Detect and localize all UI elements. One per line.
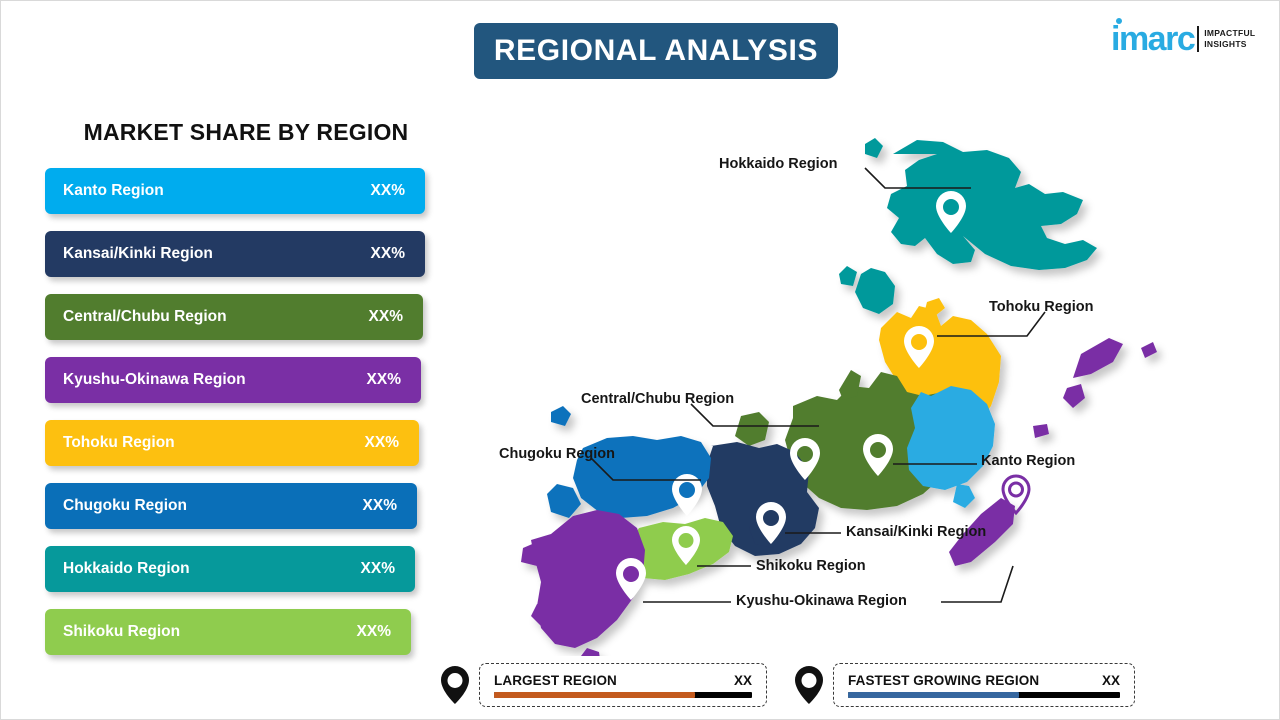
logo-dot-icon <box>1116 18 1122 24</box>
largest-region-box[interactable]: LARGEST REGION XX <box>479 663 767 707</box>
page-title: REGIONAL ANALYSIS <box>494 34 818 68</box>
legend-bar-label: Kanto Region <box>63 182 164 200</box>
map-label-shikoku: Shikoku Region <box>756 558 866 574</box>
legend-bar-value: XX% <box>371 182 405 200</box>
legend-bar[interactable]: Kyushu-Okinawa RegionXX% <box>45 357 421 403</box>
largest-region-value: XX <box>734 673 752 688</box>
page-title-banner: REGIONAL ANALYSIS <box>474 23 838 79</box>
map-label-kyushu: Kyushu-Okinawa Region <box>736 593 907 609</box>
largest-region-pin-icon <box>441 666 469 704</box>
legend-list: Kanto RegionXX%Kansai/Kinki RegionXX%Cen… <box>45 168 435 655</box>
logo-tagline: IMPACTFUL INSIGHTS <box>1204 28 1255 50</box>
logo-wordmark: imarc <box>1111 22 1194 56</box>
fastest-growing-region-box[interactable]: FASTEST GROWING REGION XX <box>833 663 1135 707</box>
legend-bar-value: XX% <box>363 497 397 515</box>
imarc-logo: imarc IMPACTFUL INSIGHTS <box>1111 17 1269 61</box>
legend-bar-label: Kansai/Kinki Region <box>63 245 213 263</box>
largest-region-row: LARGEST REGION XX <box>494 673 752 688</box>
largest-region-track <box>494 692 752 698</box>
largest-region-label: LARGEST REGION <box>494 673 617 688</box>
map-label-kansai: Kansai/Kinki Region <box>846 524 986 540</box>
region-hokkaido[interactable] <box>839 138 1097 314</box>
legend-bar-value: XX% <box>369 308 403 326</box>
legend-bar[interactable]: Chugoku RegionXX% <box>45 483 417 529</box>
fastest-region-pin-icon <box>795 666 823 704</box>
legend-bar-value: XX% <box>357 623 391 641</box>
map-label-kanto: Kanto Region <box>981 453 1075 469</box>
logo-tagline-line2: INSIGHTS <box>1204 39 1255 50</box>
legend-bar-value: XX% <box>371 245 405 263</box>
legend-bar[interactable]: Kansai/Kinki RegionXX% <box>45 231 425 277</box>
legend-bar-value: XX% <box>361 560 395 578</box>
map-label-tohoku: Tohoku Region <box>989 299 1093 315</box>
legend-bar-label: Central/Chubu Region <box>63 308 227 326</box>
map-label-chubu: Central/Chubu Region <box>581 391 734 407</box>
fastest-region-row: FASTEST GROWING REGION XX <box>848 673 1120 688</box>
legend-bar-value: XX% <box>367 371 401 389</box>
legend-bar[interactable]: Shikoku RegionXX% <box>45 609 411 655</box>
logo-text: imarc <box>1111 20 1194 58</box>
fastest-region-track <box>848 692 1120 698</box>
japan-map: Hokkaido RegionTohoku RegionCentral/Chub… <box>441 96 1261 656</box>
fastest-region-fill <box>848 692 1019 698</box>
logo-divider <box>1197 26 1199 52</box>
fastest-region-value: XX <box>1102 673 1120 688</box>
panel-title: MARKET SHARE BY REGION <box>45 119 435 146</box>
legend-bar-label: Tohoku Region <box>63 434 175 452</box>
leader-okinawa <box>941 566 1013 602</box>
legend-bar-label: Kyushu-Okinawa Region <box>63 371 246 389</box>
map-label-hokkaido: Hokkaido Region <box>719 156 837 172</box>
legend-bar-label: Hokkaido Region <box>63 560 190 578</box>
legend-bar-value: XX% <box>365 434 399 452</box>
market-share-panel: MARKET SHARE BY REGION Kanto RegionXX%Ka… <box>45 119 435 672</box>
map-label-chugoku: Chugoku Region <box>499 446 615 462</box>
largest-region-fill <box>494 692 695 698</box>
legend-bar[interactable]: Hokkaido RegionXX% <box>45 546 415 592</box>
legend-bar[interactable]: Central/Chubu RegionXX% <box>45 294 423 340</box>
logo-tagline-line1: IMPACTFUL <box>1204 28 1255 39</box>
fastest-region-label: FASTEST GROWING REGION <box>848 673 1039 688</box>
slide-root: REGIONAL ANALYSIS imarc IMPACTFUL INSIGH… <box>0 0 1280 720</box>
legend-bar[interactable]: Tohoku RegionXX% <box>45 420 419 466</box>
legend-bar[interactable]: Kanto RegionXX% <box>45 168 425 214</box>
legend-bar-label: Chugoku Region <box>63 497 187 515</box>
legend-bar-label: Shikoku Region <box>63 623 180 641</box>
